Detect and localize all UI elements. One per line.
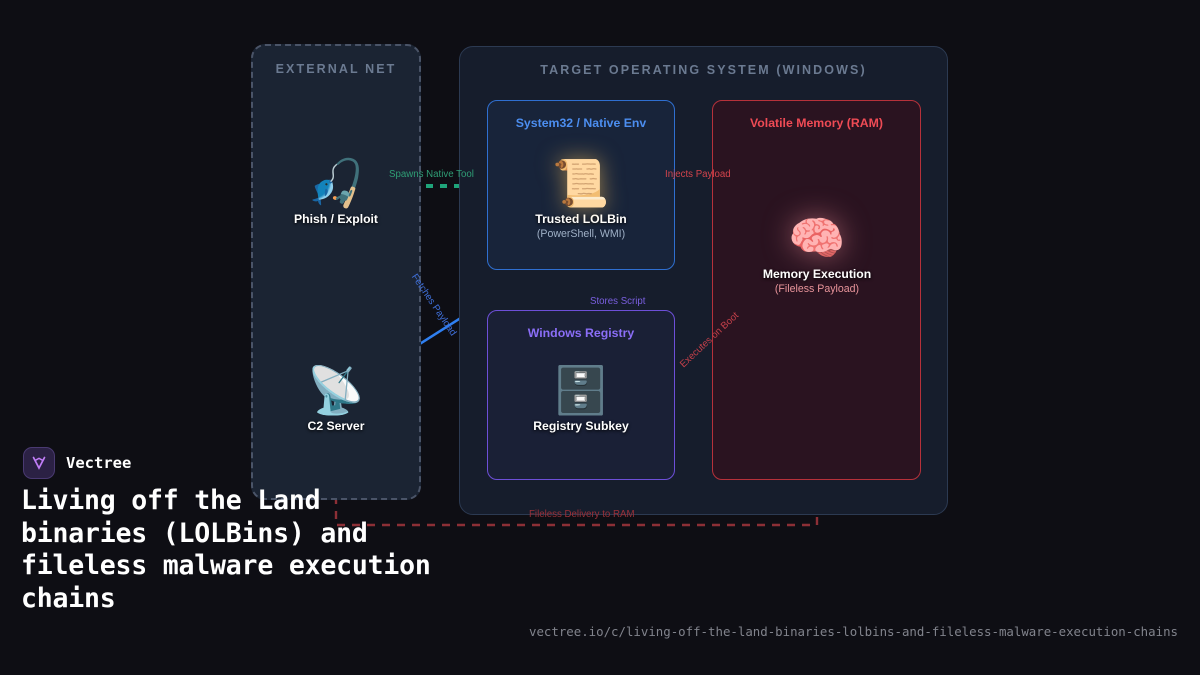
- node-memory-execution-sublabel: (Fileless Payload): [742, 283, 892, 295]
- node-phish-exploit[interactable]: 🎣 Phish / Exploit: [261, 155, 411, 226]
- satellite-dish-icon: 📡: [261, 362, 411, 418]
- edge-label-spawns-native-tool: Spawns Native Tool: [389, 169, 474, 180]
- scroll-icon: 📜: [506, 155, 656, 211]
- zone-target-os-title: TARGET OPERATING SYSTEM (WINDOWS): [460, 63, 947, 77]
- diagram-canvas: EXTERNAL NET TARGET OPERATING SYSTEM (WI…: [0, 0, 1200, 675]
- node-registry-subkey[interactable]: 🗄️ Registry Subkey: [506, 362, 656, 433]
- subzone-volatile-memory-title: Volatile Memory (RAM): [713, 116, 920, 130]
- node-c2-server-label: C2 Server: [261, 419, 411, 433]
- fishing-pole-icon: 🎣: [261, 155, 411, 211]
- vectree-logo-icon: [23, 447, 55, 479]
- vectree-logo-glyph-icon: [30, 454, 48, 472]
- brand: Vectree: [23, 447, 131, 479]
- file-cabinet-icon: 🗄️: [506, 362, 656, 418]
- node-trusted-lolbin-sublabel: (PowerShell, WMI): [506, 228, 656, 240]
- node-c2-server[interactable]: 📡 C2 Server: [261, 362, 411, 433]
- node-memory-execution[interactable]: 🧠 Memory Execution (Fileless Payload): [742, 210, 892, 295]
- edge-label-injects-payload: Injects Payload: [665, 169, 731, 180]
- node-trusted-lolbin-label: Trusted LOLBin: [506, 212, 656, 226]
- page-url: vectree.io/c/living-off-the-land-binarie…: [529, 624, 1178, 639]
- page-title: Living off the Land binaries (LOLBins) a…: [21, 485, 451, 615]
- zone-external-net-title: EXTERNAL NET: [253, 62, 419, 76]
- subzone-system32-title: System32 / Native Env: [488, 116, 674, 130]
- edge-label-fileless-delivery: Fileless Delivery to RAM: [529, 509, 635, 520]
- node-registry-subkey-label: Registry Subkey: [506, 419, 656, 433]
- brand-name: Vectree: [66, 454, 131, 472]
- subzone-windows-registry-title: Windows Registry: [488, 326, 674, 340]
- node-trusted-lolbin[interactable]: 📜 Trusted LOLBin (PowerShell, WMI): [506, 155, 656, 240]
- edge-label-stores-script: Stores Script: [590, 296, 645, 307]
- node-phish-exploit-label: Phish / Exploit: [261, 212, 411, 226]
- node-memory-execution-label: Memory Execution: [742, 267, 892, 281]
- brain-icon: 🧠: [742, 210, 892, 266]
